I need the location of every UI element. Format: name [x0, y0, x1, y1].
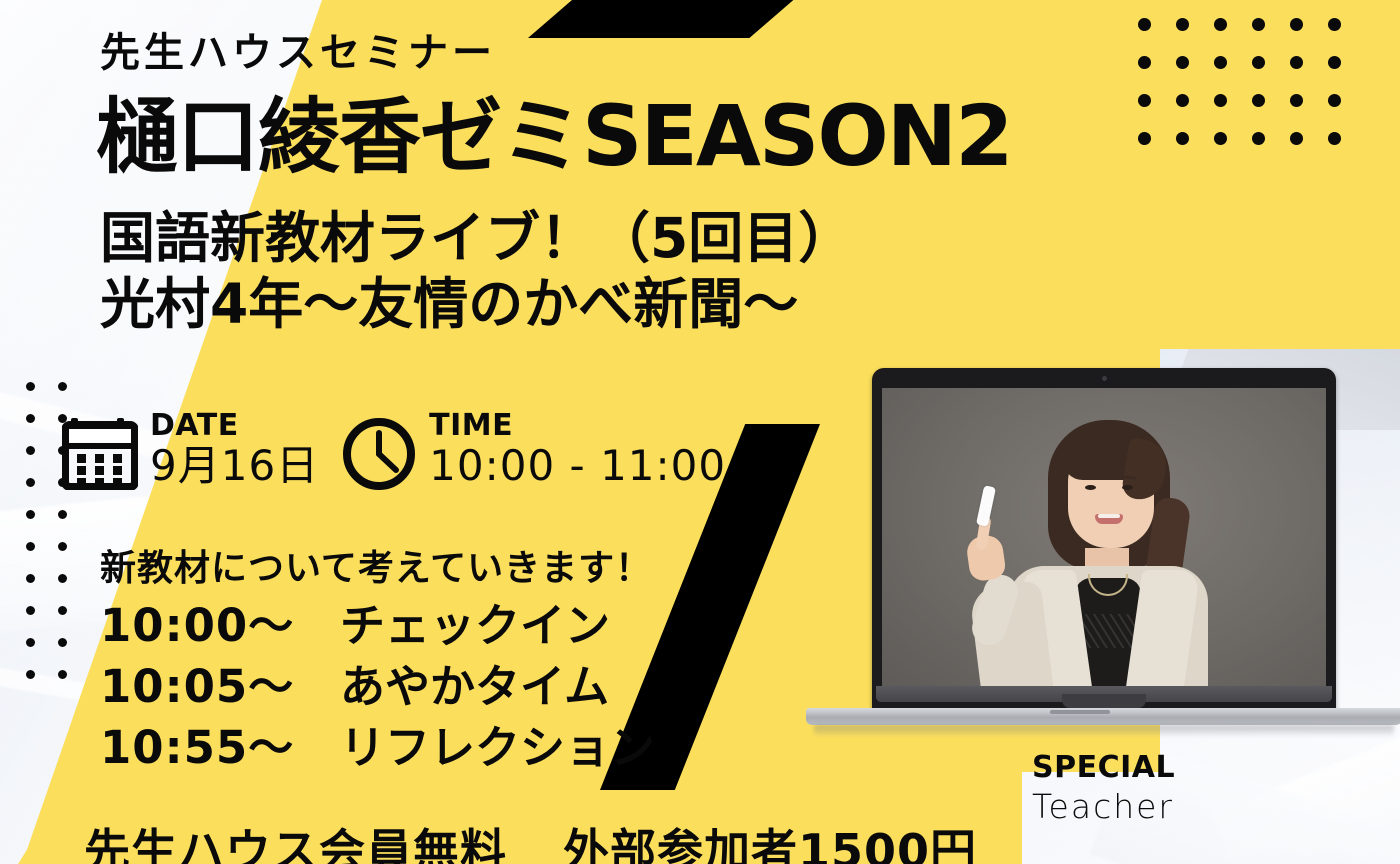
date-value: 9月16日 [150, 442, 319, 490]
decor-dot [26, 414, 35, 423]
schedule-time: 10:55〜 [100, 721, 340, 776]
time-block: TIME 10:00 - 11:00 [341, 410, 726, 497]
decor-dot [1328, 132, 1341, 145]
decor-dot [1328, 56, 1341, 69]
decor-dot [1138, 94, 1151, 107]
decor-dot [1252, 56, 1265, 69]
title-japanese: 樋口綾香ゼミ [96, 90, 582, 185]
date-label: DATE [150, 410, 319, 442]
decor-dot [26, 606, 35, 615]
decor-dot [1290, 94, 1303, 107]
decor-dot [58, 670, 67, 679]
decor-dot [1138, 132, 1151, 145]
meta-row: DATE 9月16日 TIME 10:00 - 11:00 [62, 410, 726, 497]
decor-dot [1176, 18, 1189, 31]
decor-dot [1290, 18, 1303, 31]
decor-dot [1290, 56, 1303, 69]
poster-canvas: 先生ハウスセミナー 樋口綾香ゼミSEASON2 国語新教材ライブ！（5回目） 光… [0, 0, 1400, 864]
decor-dot [26, 382, 35, 391]
decor-dot [1214, 94, 1227, 107]
decor-dot [1252, 94, 1265, 107]
time-value: 10:00 - 11:00 [429, 442, 726, 490]
member-price: 先生ハウス会員無料 [84, 826, 507, 864]
decor-dot [1138, 56, 1151, 69]
decor-dot [58, 574, 67, 583]
decor-dot [58, 638, 67, 647]
decor-dot [1214, 56, 1227, 69]
page-title: 樋口綾香ゼミSEASON2 [96, 92, 1012, 181]
decor-dot [1214, 18, 1227, 31]
footer-price-line: 先生ハウス会員無料 外部参加者1500円 [84, 826, 977, 864]
schedule-row: 10:55〜リフレクション [100, 721, 655, 776]
subtitle-line-2: 光村4年〜友情のかべ新聞〜 [100, 271, 853, 337]
schedule-time: 10:05〜 [100, 660, 340, 715]
portrait-eye [1085, 485, 1096, 490]
schedule-description: あやかタイム [340, 660, 609, 715]
decor-dot [26, 542, 35, 551]
decor-dot [58, 606, 67, 615]
title-english: SEASON2 [582, 87, 1012, 185]
decor-dot [1252, 132, 1265, 145]
page-subtitle: 国語新教材ライブ！（5回目） 光村4年〜友情のかべ新聞〜 [100, 205, 853, 337]
decor-dot [1138, 18, 1151, 31]
dot-grid-top-right [1138, 18, 1366, 170]
webcam-icon [1102, 376, 1107, 381]
decor-dot [58, 510, 67, 519]
portrait-chalk [976, 485, 996, 527]
schedule-description: チェックイン [340, 599, 610, 654]
decor-dot [26, 446, 35, 455]
date-block: DATE 9月16日 [62, 410, 319, 495]
speaker-portrait [882, 388, 1326, 688]
calendar-icon [62, 416, 138, 495]
date-text: DATE 9月16日 [150, 410, 319, 490]
decor-dot [26, 670, 35, 679]
laptop-mockup [872, 368, 1336, 728]
decor-dot [26, 638, 35, 647]
decor-dot [1214, 132, 1227, 145]
laptop-lid [872, 368, 1336, 712]
decor-dot [58, 542, 67, 551]
decor-dot [1176, 132, 1189, 145]
schedule-lead: 新教材について考えていきます！ [100, 548, 655, 589]
footer-spacer [507, 826, 563, 864]
laptop-base-shadow [814, 725, 1394, 737]
time-label: TIME [429, 410, 726, 442]
decor-dot [1290, 132, 1303, 145]
laptop-base [806, 708, 1400, 725]
decor-dot [1176, 94, 1189, 107]
guest-price: 外部参加者1500円 [563, 826, 977, 864]
decor-dot [26, 574, 35, 583]
decor-dot [1252, 18, 1265, 31]
schedule-row: 10:00〜チェックイン [100, 599, 655, 654]
laptop-notch [1062, 694, 1146, 708]
portrait-eye [1122, 485, 1133, 490]
decor-dot [26, 478, 35, 487]
special-teacher-block: SPECIAL Teacher [1032, 750, 1175, 826]
schedule-time: 10:00〜 [100, 599, 340, 654]
special-label: SPECIAL [1032, 750, 1175, 785]
schedule-row: 10:05〜あやかタイム [100, 660, 655, 715]
decor-dot [1176, 56, 1189, 69]
decor-dot [26, 510, 35, 519]
schedule-description: リフレクション [340, 721, 655, 776]
laptop-screen [882, 388, 1326, 688]
clock-icon [341, 416, 417, 497]
decor-dot [1328, 94, 1341, 107]
schedule-rows: 10:00〜チェックイン10:05〜あやかタイム10:55〜リフレクション [100, 599, 655, 776]
eyebrow-text: 先生ハウスセミナー [100, 33, 496, 73]
schedule-block: 新教材について考えていきます！ 10:00〜チェックイン10:05〜あやかタイム… [100, 548, 655, 782]
subtitle-line-1: 国語新教材ライブ！（5回目） [100, 205, 853, 271]
decor-dot [58, 382, 67, 391]
portrait-teeth [1098, 514, 1120, 518]
time-text: TIME 10:00 - 11:00 [429, 410, 726, 490]
teacher-label: Teacher [1032, 787, 1175, 826]
decor-dot [1328, 18, 1341, 31]
